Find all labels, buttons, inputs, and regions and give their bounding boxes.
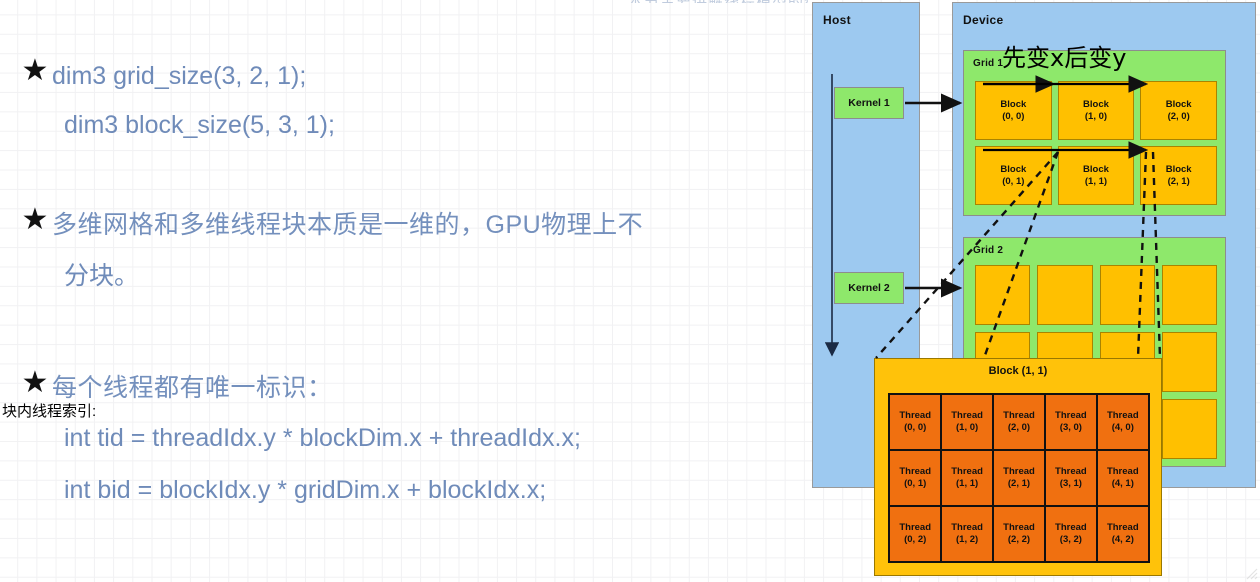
block-label: Block (1000, 99, 1026, 111)
annotation-x-then-y: 先变x后变y (1002, 38, 1126, 73)
thread-cell: Thread(3, 2) (1046, 507, 1096, 561)
grid-1-blocks: Block(0, 0)Block(1, 0)Block(2, 0)Block(0… (975, 81, 1217, 205)
grid-2-title: Grid 2 (973, 245, 1003, 256)
thread-label: Thread (1055, 522, 1087, 534)
thread-coord: (4, 1) (1112, 478, 1134, 490)
thread-coord: (0, 0) (904, 422, 926, 434)
thread-cell: Thread(4, 1) (1098, 451, 1148, 505)
host-panel-title: Host (823, 13, 851, 27)
bullet-2-line-1: 多维网格和多维线程块本质是一维的，GPU物理上不 (52, 205, 643, 246)
block-label: Block (1083, 164, 1109, 176)
star-icon: ★ (18, 368, 52, 398)
thread-label: Thread (1107, 466, 1139, 478)
block-label: Block (1166, 164, 1192, 176)
thread-coord: (2, 0) (1008, 422, 1030, 434)
block-coord: (0, 1) (1002, 176, 1024, 188)
grid-1-block: Block(0, 1) (975, 146, 1052, 205)
grid-2-block (975, 265, 1030, 325)
thread-cell: Thread(3, 1) (1046, 451, 1096, 505)
thread-label: Thread (1003, 466, 1035, 478)
grid-1-block: Block(1, 1) (1058, 146, 1135, 205)
thread-coord: (3, 2) (1060, 534, 1082, 546)
thread-coord: (2, 1) (1008, 478, 1030, 490)
block-label: Block (1083, 99, 1109, 111)
grid-1-block: Block(0, 0) (975, 81, 1052, 140)
thread-coord: (3, 0) (1060, 422, 1082, 434)
block-1-1-detail-panel: Block (1, 1) Thread(0, 0)Thread(1, 0)Thr… (874, 358, 1162, 576)
thread-cell: Thread(4, 2) (1098, 507, 1148, 561)
thread-grid: Thread(0, 0)Thread(1, 0)Thread(2, 0)Thre… (888, 393, 1150, 563)
thread-label: Thread (1107, 522, 1139, 534)
grid-2-block (1037, 265, 1092, 325)
grid-1-block: Block(2, 0) (1140, 81, 1217, 140)
thread-coord: (4, 0) (1112, 422, 1134, 434)
cuda-thread-model-diagram: Host Device Kernel 1 Kernel 2 Grid 1 Blo… (808, 0, 1260, 582)
resize-grip-icon[interactable] (1242, 564, 1258, 580)
thread-label: Thread (1003, 410, 1035, 422)
thread-coord: (1, 0) (956, 422, 978, 434)
thread-cell: Thread(0, 2) (890, 507, 940, 561)
thread-label: Thread (899, 522, 931, 534)
star-icon: ★ (18, 56, 52, 86)
thread-cell: Thread(1, 0) (942, 395, 992, 449)
block-coord: (2, 0) (1168, 111, 1190, 123)
block-coord: (1, 1) (1085, 176, 1107, 188)
kernel-1-box: Kernel 1 (834, 87, 904, 119)
slide-text-column: ★ dim3 grid_size(3, 2, 1); dim3 block_si… (0, 0, 800, 582)
code-line-tid: int tid = threadIdx.y * blockDim.x + thr… (64, 418, 581, 459)
thread-cell: Thread(4, 0) (1098, 395, 1148, 449)
thread-label: Thread (899, 466, 931, 478)
block-label: Block (1000, 164, 1026, 176)
thread-coord: (0, 2) (904, 534, 926, 546)
grid-1-block: Block(2, 1) (1140, 146, 1217, 205)
block-coord: (0, 0) (1002, 111, 1024, 123)
thread-label: Thread (1055, 466, 1087, 478)
grid-1-block: Block(1, 0) (1058, 81, 1135, 140)
star-icon: ★ (18, 205, 52, 235)
thread-cell: Thread(2, 2) (994, 507, 1044, 561)
thread-label: Thread (951, 410, 983, 422)
thread-cell: Thread(2, 0) (994, 395, 1044, 449)
grid-2-block (1162, 332, 1217, 392)
block-coord: (1, 0) (1085, 111, 1107, 123)
thread-cell: Thread(1, 2) (942, 507, 992, 561)
bullet-1: ★ dim3 grid_size(3, 2, 1); (18, 56, 306, 97)
thread-coord: (1, 1) (956, 478, 978, 490)
grid-2-block (1162, 265, 1217, 325)
thread-label: Thread (1055, 410, 1087, 422)
kernel-2-box: Kernel 2 (834, 272, 904, 304)
thread-label: Thread (899, 410, 931, 422)
bullet-2: ★ 多维网格和多维线程块本质是一维的，GPU物理上不 (18, 205, 643, 246)
thread-label: Thread (1003, 522, 1035, 534)
grid-2-block (1100, 265, 1155, 325)
bullet-2-line-2: 分块。 (64, 256, 139, 297)
thread-cell: Thread(3, 0) (1046, 395, 1096, 449)
thread-cell: Thread(1, 1) (942, 451, 992, 505)
code-line-bid: int bid = blockIdx.y * gridDim.x + block… (64, 470, 546, 511)
thread-label: Thread (1107, 410, 1139, 422)
thread-coord: (3, 1) (1060, 478, 1082, 490)
thread-cell: Thread(0, 0) (890, 395, 940, 449)
thread-label: Thread (951, 522, 983, 534)
thread-coord: (1, 2) (956, 534, 978, 546)
thread-cell: Thread(2, 1) (994, 451, 1044, 505)
thread-label: Thread (951, 466, 983, 478)
thread-cell: Thread(0, 1) (890, 451, 940, 505)
grid-1-container: Grid 1 Block(0, 0)Block(1, 0)Block(2, 0)… (963, 50, 1226, 216)
device-panel-title: Device (963, 13, 1004, 27)
thread-coord: (2, 2) (1008, 534, 1030, 546)
thread-coord: (4, 2) (1112, 534, 1134, 546)
block-coord: (2, 1) (1168, 176, 1190, 188)
block-detail-title: Block (1, 1) (875, 365, 1161, 377)
grid-1-title: Grid 1 (973, 58, 1003, 69)
bullet-1-line-1: dim3 grid_size(3, 2, 1); (52, 56, 306, 97)
block-label: Block (1166, 99, 1192, 111)
grid-2-block (1162, 399, 1217, 459)
thread-coord: (0, 1) (904, 478, 926, 490)
bullet-1-line-2: dim3 block_size(5, 3, 1); (64, 105, 335, 146)
